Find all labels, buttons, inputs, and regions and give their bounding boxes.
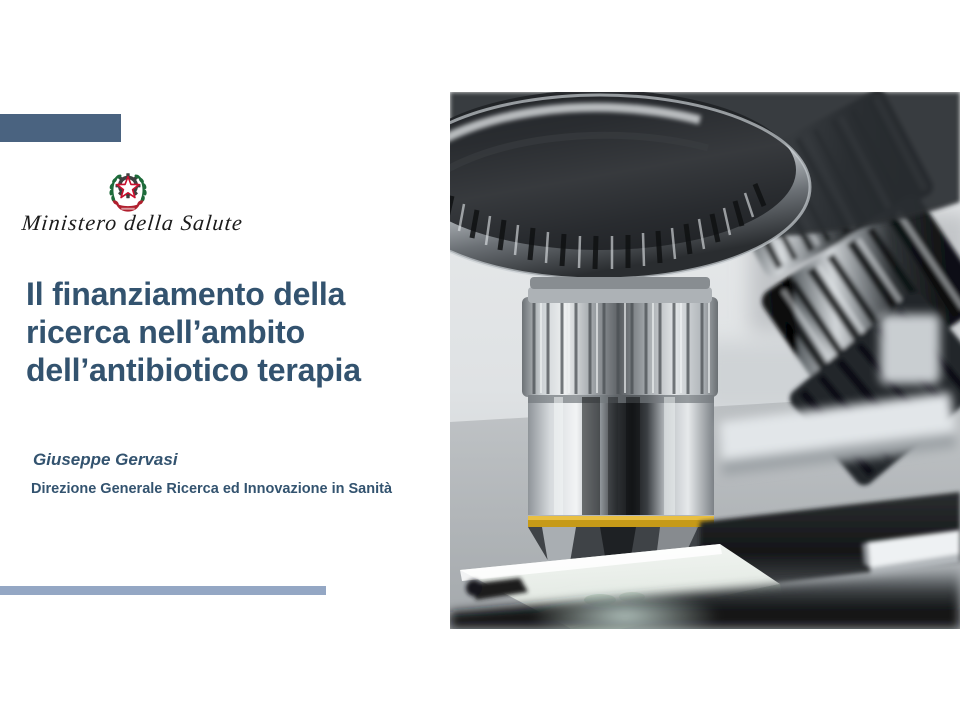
microscope-photo — [450, 92, 960, 629]
title-slide: Ministero della Salute Il finanziamento … — [0, 0, 960, 720]
author-name: Giuseppe Gervasi — [33, 450, 433, 470]
title-line-2: ricerca nell’ambito — [26, 313, 441, 351]
emblem-of-italy-icon — [104, 166, 152, 216]
slide-title: Il finanziamento della ricerca nell’ambi… — [26, 275, 441, 389]
author-affiliation: Direzione Generale Ricerca ed Innovazion… — [31, 481, 436, 498]
title-line-1: Il finanziamento della — [26, 275, 441, 313]
ministry-wordmark: Ministero della Salute — [21, 210, 244, 236]
ministry-logo: Ministero della Salute — [22, 166, 242, 248]
title-line-3: dell’antibiotico terapia — [26, 351, 441, 389]
left-content-column: Ministero della Salute Il finanziamento … — [0, 0, 450, 720]
